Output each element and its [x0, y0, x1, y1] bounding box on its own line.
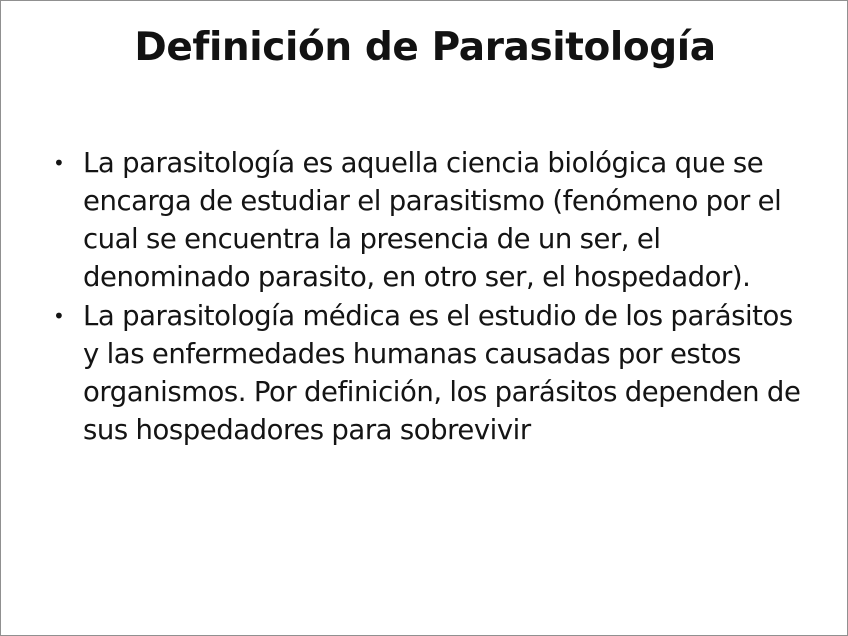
- slide-canvas: Definición de Parasitología • La parasit…: [0, 0, 848, 636]
- bullet-point-icon: •: [53, 297, 67, 335]
- bullet-point-icon: •: [53, 144, 67, 182]
- list-item-text: La parasitología médica es el estudio de…: [83, 297, 807, 449]
- list-item: • La parasitología es aquella ciencia bi…: [45, 144, 807, 296]
- list-item-text: La parasitología es aquella ciencia biol…: [83, 144, 807, 296]
- slide-body-content: • La parasitología es aquella ciencia bi…: [45, 144, 807, 449]
- list-item: • La parasitología médica es el estudio …: [45, 297, 807, 449]
- page-title: Definición de Parasitología: [1, 24, 848, 72]
